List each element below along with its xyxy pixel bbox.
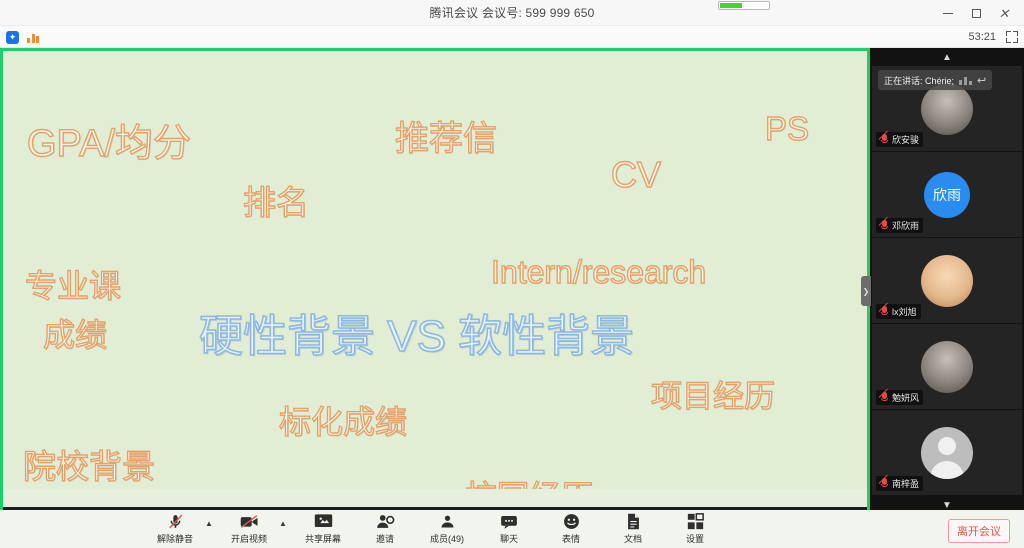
chat-icon: [500, 513, 518, 530]
return-arrow-icon[interactable]: ↩: [977, 74, 986, 87]
toolbar-button-label: 聊天: [500, 532, 518, 545]
participant-name-badge: 邓欣雨: [876, 218, 923, 233]
settings-grid-icon: [687, 513, 704, 530]
speaking-banner: 正在讲话: Chérie; ↩: [878, 70, 992, 90]
slide-keyword: PS: [765, 112, 809, 145]
title-bar: 腾讯会议 会议号: 599 999 650 ✕: [0, 0, 1024, 26]
toolbar-button-label: 解除静音: [157, 532, 193, 545]
participant-name-badge: 欣安骏: [876, 132, 923, 147]
participant-name-badge: 南梓盈: [876, 476, 923, 491]
panel-collapse-handle[interactable]: ❯: [861, 276, 871, 306]
toolbar-button-share-screen[interactable]: 共享屏幕: [299, 511, 347, 547]
slide-keyword: 推荐信: [395, 123, 497, 157]
participant-name: 欣安骏: [892, 133, 919, 146]
tencent-meeting-window: 腾讯会议 会议号: 599 999 650 ✕ ✦ 53:21 GPA/均分推荐…: [0, 0, 1024, 548]
participant-tile[interactable]: lx刘旭: [872, 238, 1022, 323]
speaking-label: 正在讲话: Chérie;: [884, 74, 954, 87]
toolbar-button-camera-off[interactable]: 开启视频: [225, 511, 273, 547]
slide-keyword: 项目经历: [651, 381, 775, 412]
invite-icon: [376, 513, 395, 530]
slide-keyword: 排名: [243, 188, 309, 221]
status-bar-left-icons: ✦: [6, 26, 40, 48]
toolbar-button-label: 邀请: [376, 532, 394, 545]
mic-muted-icon: [880, 478, 889, 489]
toolbar-button-label: 文档: [624, 532, 642, 545]
maximize-button[interactable]: [962, 0, 990, 26]
slide-keyword: GPA/均分: [27, 125, 191, 163]
slide-keyword: 院校背景: [23, 452, 155, 485]
mic-muted-icon: [880, 306, 889, 317]
participant-tiles: 欣安骏欣雨邓欣雨lx刘旭勉妍风南梓盈: [870, 66, 1024, 496]
leave-meeting-button[interactable]: 离开会议: [948, 519, 1010, 543]
slide-keyword: 专业课: [25, 270, 121, 302]
participant-name: 勉妍风: [892, 391, 919, 404]
toolbar-items: 解除静音▲开启视频▲共享屏幕邀请成员(49)聊天表情文档设置: [0, 510, 870, 548]
slide-keyword: 成绩: [43, 319, 107, 351]
participant-tile[interactable]: 欣雨邓欣雨: [872, 152, 1022, 237]
slide-keyword: CV: [611, 157, 661, 193]
participant-rail: ▲ 正在讲话: Chérie; ↩ 欣安骏欣雨邓欣雨lx刘旭勉妍风南梓盈 ▼: [870, 48, 1024, 548]
window-controls: ✕: [934, 0, 1018, 26]
close-icon: ✕: [999, 7, 1010, 20]
avatar: [921, 83, 973, 135]
window-title: 腾讯会议 会议号: 599 999 650: [0, 0, 1024, 26]
meeting-timer: 53:21: [968, 31, 996, 43]
shield-icon[interactable]: ✦: [6, 31, 19, 44]
members-icon: [439, 513, 456, 530]
participant-name-badge: lx刘旭: [876, 304, 921, 319]
slide-title: 硬性背景 VS 软性背景: [199, 315, 634, 359]
document-icon: [626, 513, 641, 530]
rail-scroll-up-button[interactable]: ▲: [870, 48, 1024, 66]
toolbar-button-label: 共享屏幕: [305, 532, 341, 545]
emoji-icon: [563, 513, 580, 530]
participant-name: lx刘旭: [892, 305, 917, 318]
audio-wave-icon: [959, 76, 972, 85]
participant-name: 南梓盈: [892, 477, 919, 490]
avatar: [921, 341, 973, 393]
mic-muted-icon: [880, 134, 889, 145]
mic-muted-icon: [880, 392, 889, 403]
status-bar-right: 53:21: [968, 26, 1018, 48]
slide-keyword: 海外经历: [701, 492, 825, 507]
slide-keyword: 校园经历: [465, 481, 593, 507]
mic-muted-icon: [167, 513, 184, 530]
status-bar: ✦ 53:21: [0, 26, 1024, 48]
share-screen-icon: [314, 513, 333, 530]
toolbar-button-settings-grid[interactable]: 设置: [671, 511, 719, 547]
camera-off-icon: [240, 513, 259, 530]
presentation-slide: GPA/均分推荐信PSCV排名Intern/research专业课成绩项目经历标…: [3, 51, 867, 507]
slide-keyword: Intern/research: [491, 256, 706, 288]
toolbar-button-label: 开启视频: [231, 532, 267, 545]
avatar: [921, 255, 973, 307]
toolbar-button-document[interactable]: 文档: [609, 511, 657, 547]
maximize-icon: [972, 9, 981, 18]
toolbar-button-label: 成员(49): [430, 532, 464, 545]
toolbar-button-invite[interactable]: 邀请: [361, 511, 409, 547]
meeting-toolbar: 解除静音▲开启视频▲共享屏幕邀请成员(49)聊天表情文档设置: [0, 510, 870, 548]
fullscreen-icon[interactable]: [1006, 31, 1018, 43]
minimize-icon: [943, 13, 953, 14]
participant-name-badge: 勉妍风: [876, 390, 923, 405]
avatar: 欣雨: [924, 172, 970, 218]
close-button[interactable]: ✕: [990, 0, 1018, 26]
toolbar-button-label: 表情: [562, 532, 580, 545]
mic-muted-icon: [880, 220, 889, 231]
participant-tile[interactable]: 南梓盈: [872, 410, 1022, 495]
participant-name: 邓欣雨: [892, 219, 919, 232]
battery-indicator-icon: [718, 1, 770, 10]
network-bars-icon[interactable]: [27, 32, 40, 43]
toolbar-button-mic-muted[interactable]: 解除静音: [151, 511, 199, 547]
shared-screen-stage: GPA/均分推荐信PSCV排名Intern/research专业课成绩项目经历标…: [0, 48, 870, 510]
toolbar-button-chat[interactable]: 聊天: [485, 511, 533, 547]
minimize-button[interactable]: [934, 0, 962, 26]
toolbar-button-emoji[interactable]: 表情: [547, 511, 595, 547]
avatar: [921, 427, 973, 479]
chevron-up-icon[interactable]: ▲: [203, 511, 215, 547]
chevron-up-icon[interactable]: ▲: [277, 511, 289, 547]
toolbar-button-members[interactable]: 成员(49): [423, 511, 471, 547]
participant-tile[interactable]: 勉妍风: [872, 324, 1022, 409]
toolbar-button-label: 设置: [686, 532, 704, 545]
slide-keyword: 标化成绩: [279, 406, 407, 438]
